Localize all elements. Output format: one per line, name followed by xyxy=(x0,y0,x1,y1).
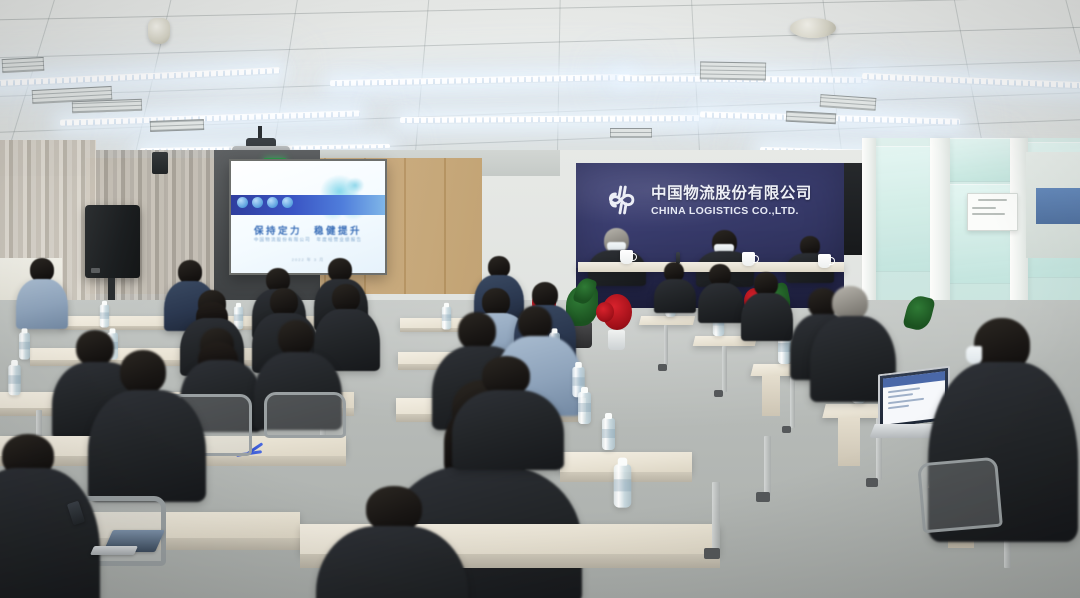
air-vent xyxy=(150,119,204,132)
slide-icon-box xyxy=(282,197,293,208)
desk-leg xyxy=(722,346,727,392)
desk-caster xyxy=(756,492,770,502)
water-bottle xyxy=(8,365,20,395)
air-vent xyxy=(820,94,877,111)
desk-caster xyxy=(782,426,791,433)
attendee-head xyxy=(332,284,360,312)
face-mask xyxy=(966,346,982,364)
attendee-torso xyxy=(698,283,744,323)
water-bottle xyxy=(614,464,632,507)
slide-subtitle: 中国物流股份有限公司 年度经营业绩报告 xyxy=(231,237,385,243)
laptop-text-row xyxy=(888,394,913,399)
water-bottle xyxy=(19,333,30,360)
water-bottle xyxy=(442,306,451,329)
desk-device-stand xyxy=(90,546,138,555)
smoke-detector xyxy=(148,18,170,44)
attendee-head xyxy=(120,350,166,394)
attendee-head xyxy=(832,286,868,320)
air-vent xyxy=(700,61,766,80)
air-vent xyxy=(2,57,45,73)
slide-icon-truck xyxy=(267,197,278,208)
attendee-head xyxy=(278,320,314,356)
laptop-text-row xyxy=(888,398,924,404)
water-cup xyxy=(818,254,831,268)
plant-pot xyxy=(608,330,625,350)
slide-title: 保持定力 稳健提升 xyxy=(231,223,385,237)
glass-wall-notice-sign xyxy=(967,193,1018,231)
slide-footer: 2022 年 3 月 xyxy=(231,257,385,263)
projection-screen: 保持定力 稳健提升 中国物流股份有限公司 年度经营业绩报告 2022 年 3 月 xyxy=(229,159,387,275)
attendee-torso xyxy=(741,293,793,341)
desk-leg xyxy=(764,436,771,496)
conference-room-photograph: 保持定力 稳健提升 中国物流股份有限公司 年度经营业绩报告 2022 年 3 月… xyxy=(0,0,1080,598)
water-cup xyxy=(742,252,755,266)
sign-line xyxy=(978,199,1008,201)
laptop-text-row xyxy=(888,405,909,410)
company-name-chinese: 中国物流股份有限公司 xyxy=(651,181,812,203)
far-wall-monitor xyxy=(1036,188,1080,224)
air-vent xyxy=(610,128,652,138)
laptop-text-row xyxy=(888,387,920,393)
ceiling-light-fixture xyxy=(400,115,700,124)
china-logistics-knot-logo xyxy=(603,181,643,219)
glass-pane xyxy=(948,138,1010,182)
slide-icon-row xyxy=(237,197,293,208)
attendee-head xyxy=(458,312,496,350)
attendee-torso xyxy=(16,279,68,329)
chair-back xyxy=(917,457,1003,534)
slide-icon-globe xyxy=(237,197,248,208)
attendee-head xyxy=(518,306,552,340)
desk-leg xyxy=(712,482,720,552)
water-bottle xyxy=(602,418,615,450)
wall-mounted-speaker xyxy=(152,152,168,174)
banner-text-block: 中国物流股份有限公司 CHINA LOGISTICS CO.,LTD. xyxy=(651,181,812,217)
attendee-torso xyxy=(88,390,206,502)
water-bottle xyxy=(578,392,591,424)
attendee-head xyxy=(482,288,510,316)
desk-modesty-panel xyxy=(762,376,780,416)
sign-line xyxy=(972,207,996,209)
desk-caster xyxy=(658,364,667,371)
chair-back xyxy=(264,392,346,438)
desk-caster xyxy=(866,478,878,487)
desk-caster xyxy=(714,390,723,397)
smoke-detector xyxy=(790,18,836,38)
attendee-torso xyxy=(452,390,564,470)
laptop-titlebar xyxy=(883,371,945,388)
attendee-head xyxy=(270,288,298,316)
desk-leg xyxy=(664,325,668,365)
slide-icon-chart xyxy=(252,197,263,208)
water-bottle xyxy=(100,304,109,327)
desk-modesty-panel xyxy=(838,418,860,466)
attendee-head xyxy=(76,330,114,366)
glass-pane xyxy=(874,146,930,272)
air-vent xyxy=(786,111,837,125)
sign-line xyxy=(972,213,1005,215)
red-poinsettia xyxy=(596,302,614,322)
air-vent xyxy=(72,99,142,113)
water-cup xyxy=(620,250,633,264)
company-name-english: CHINA LOGISTICS CO.,LTD. xyxy=(651,205,812,217)
attendee-torso xyxy=(654,279,696,313)
desk-leg xyxy=(790,376,795,428)
attendee-desk xyxy=(639,316,695,325)
loudspeaker xyxy=(85,205,140,278)
ceiling-light-fixture xyxy=(330,74,630,87)
desk-caster xyxy=(704,548,720,559)
